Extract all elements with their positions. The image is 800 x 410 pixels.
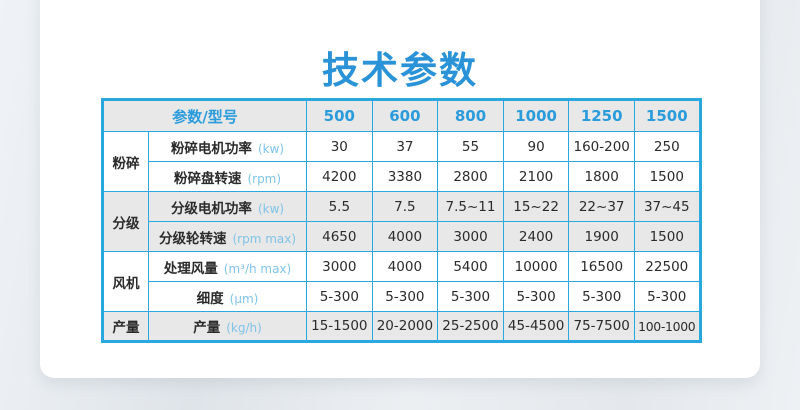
value-cell: 7.5 xyxy=(372,192,438,222)
value-cell: 10000 xyxy=(503,252,569,282)
value-cell: 5-300 xyxy=(372,282,438,312)
value-cell: 3000 xyxy=(307,252,373,282)
value-cell: 16500 xyxy=(569,252,635,282)
value-cell: 7.5~11 xyxy=(438,192,504,222)
table-row: 粉碎盘转速(rpm)420033802800210018001500 xyxy=(103,162,701,192)
param-name: 分级电机功率 xyxy=(171,201,252,217)
header-model-1000: 1000 xyxy=(503,100,569,132)
param-name-cell: 分级电机功率(kw) xyxy=(149,192,307,222)
param-name-cell: 细度(μm) xyxy=(149,282,307,312)
value-cell: 15-1500 xyxy=(307,312,373,342)
param-name: 粉碎盘转速 xyxy=(174,171,242,187)
value-cell: 25-2500 xyxy=(438,312,504,342)
param-name-cell: 产量(kg/h) xyxy=(149,312,307,342)
value-cell: 5400 xyxy=(438,252,504,282)
param-unit: (kg/h) xyxy=(226,321,262,335)
header-param-label: 参数/型号 xyxy=(103,100,307,132)
param-name-cell: 分级轮转速(rpm max) xyxy=(149,222,307,252)
group-label-3: 产量 xyxy=(103,312,149,342)
param-unit: (m³/h max) xyxy=(224,262,291,276)
table-row: 细度(μm)5-3005-3005-3005-3005-3005-300 xyxy=(103,282,701,312)
value-cell: 20-2000 xyxy=(372,312,438,342)
value-cell: 4000 xyxy=(372,252,438,282)
param-name-cell: 粉碎盘转速(rpm) xyxy=(149,162,307,192)
param-name-cell: 处理风量(m³/h max) xyxy=(149,252,307,282)
param-unit: (rpm max) xyxy=(232,232,296,246)
value-cell: 250 xyxy=(634,132,700,162)
value-cell: 5-300 xyxy=(503,282,569,312)
value-cell: 90 xyxy=(503,132,569,162)
value-cell: 37~45 xyxy=(634,192,700,222)
param-name: 产量 xyxy=(193,320,220,336)
param-name: 细度 xyxy=(197,291,224,307)
header-model-800: 800 xyxy=(438,100,504,132)
value-cell: 5.5 xyxy=(307,192,373,222)
value-cell: 22500 xyxy=(634,252,700,282)
value-cell: 15~22 xyxy=(503,192,569,222)
table-row: 分级轮转速(rpm max)465040003000240019001500 xyxy=(103,222,701,252)
value-cell: 160-200 xyxy=(569,132,635,162)
param-name-cell: 粉碎电机功率(kw) xyxy=(149,132,307,162)
value-cell: 2100 xyxy=(503,162,569,192)
value-cell: 5-300 xyxy=(569,282,635,312)
param-unit: (rpm) xyxy=(247,172,281,186)
group-label-0: 粉碎 xyxy=(103,132,149,192)
group-label-1: 分级 xyxy=(103,192,149,252)
value-cell: 75-7500 xyxy=(569,312,635,342)
table-row: 风机处理风量(m³/h max)300040005400100001650022… xyxy=(103,252,701,282)
value-cell: 30 xyxy=(307,132,373,162)
table-header-row: 参数/型号500600800100012501500 xyxy=(103,100,701,132)
header-model-500: 500 xyxy=(307,100,373,132)
table-row: 分级分级电机功率(kw)5.57.57.5~1115~2222~3737~45 xyxy=(103,192,701,222)
table-row: 产量产量(kg/h)15-150020-200025-250045-450075… xyxy=(103,312,701,342)
param-name: 粉碎电机功率 xyxy=(171,141,252,157)
header-model-600: 600 xyxy=(372,100,438,132)
page-title: 技术参数 xyxy=(0,52,800,91)
value-cell: 45-4500 xyxy=(503,312,569,342)
value-cell: 5-300 xyxy=(438,282,504,312)
header-model-1500: 1500 xyxy=(634,100,700,132)
value-cell: 4650 xyxy=(307,222,373,252)
value-cell: 4200 xyxy=(307,162,373,192)
value-cell: 2800 xyxy=(438,162,504,192)
value-cell: 22~37 xyxy=(569,192,635,222)
value-cell: 3000 xyxy=(438,222,504,252)
value-cell: 5-300 xyxy=(634,282,700,312)
value-cell: 1900 xyxy=(569,222,635,252)
param-name: 处理风量 xyxy=(164,261,218,277)
spec-table-container: 参数/型号500600800100012501500粉碎粉碎电机功率(kw)30… xyxy=(101,98,699,343)
value-cell: 55 xyxy=(438,132,504,162)
param-unit: (kw) xyxy=(258,142,284,156)
value-cell: 100-1000 xyxy=(634,312,700,342)
param-unit: (μm) xyxy=(230,292,259,306)
value-cell: 1500 xyxy=(634,162,700,192)
value-cell: 3380 xyxy=(372,162,438,192)
value-cell: 1800 xyxy=(569,162,635,192)
param-unit: (kw) xyxy=(258,202,284,216)
value-cell: 37 xyxy=(372,132,438,162)
value-cell: 4000 xyxy=(372,222,438,252)
spec-table: 参数/型号500600800100012501500粉碎粉碎电机功率(kw)30… xyxy=(101,98,702,343)
header-model-1250: 1250 xyxy=(569,100,635,132)
value-cell: 2400 xyxy=(503,222,569,252)
value-cell: 5-300 xyxy=(307,282,373,312)
value-cell: 1500 xyxy=(634,222,700,252)
table-row: 粉碎粉碎电机功率(kw)30375590160-200250 xyxy=(103,132,701,162)
group-label-2: 风机 xyxy=(103,252,149,312)
param-name: 分级轮转速 xyxy=(159,231,227,247)
